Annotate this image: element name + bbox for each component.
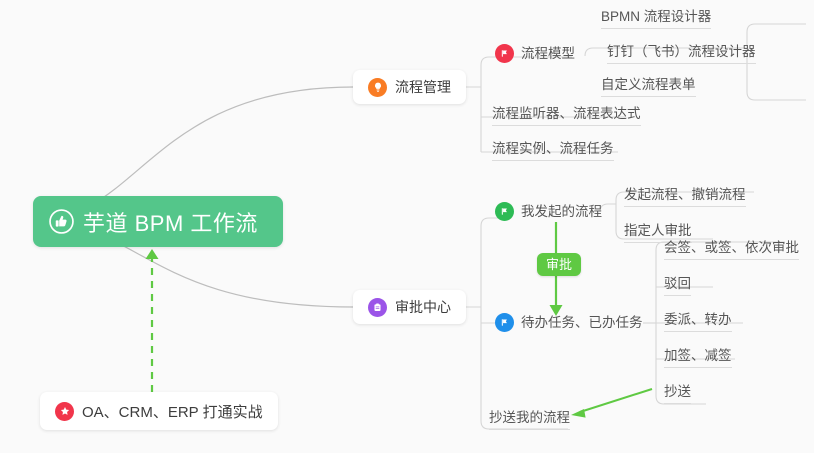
flag-icon [495,44,514,63]
node-label: OA、CRM、ERP 打通实战 [82,401,263,422]
node-weipai-zhuanban[interactable]: 委派、转办 [664,313,732,332]
node-huiqian-huoqian-yici[interactable]: 会签、或签、依次审批 [664,241,799,260]
lightbulb-icon [368,78,387,97]
link-wf-stem [600,204,616,212]
node-wo-faqi-de-liucheng[interactable]: 我发起的流程 [495,202,602,221]
link-lm-to-bpmn [747,24,806,32]
node-label: 我发起的流程 [521,205,602,219]
root-label: 芋道 BPM 工作流 [83,206,258,238]
node-jiaqian-jianqian[interactable]: 加签、减签 [664,349,732,368]
arrow-oa-to-root [146,249,159,392]
mindmap-canvas: 芋道 BPM 工作流 流程管理 流程模型 BPMN 流程设计器 钉钉（飞书）流程… [0,0,814,453]
node-liucheng-guanli[interactable]: 流程管理 [353,70,466,104]
node-label: 待办任务、已办任务 [521,316,643,330]
flag-icon [495,202,514,221]
node-shili-renwu[interactable]: 流程实例、流程任务 [492,142,614,161]
node-dingding-feishu-sheji[interactable]: 钉钉（飞书）流程设计器 [607,45,756,64]
star-icon [55,402,74,421]
node-liucheng-moxing[interactable]: 流程模型 [495,44,575,63]
node-chaosong[interactable]: 抄送 [664,385,691,404]
node-jianting-biaodashi[interactable]: 流程监听器、流程表达式 [492,107,641,126]
node-faqi-chexiao[interactable]: 发起流程、撤销流程 [624,188,746,207]
node-label: 审批中心 [395,297,451,317]
node-label: 流程管理 [395,77,451,97]
link-lm-to-zidingyi [747,92,806,100]
node-bohui[interactable]: 驳回 [664,277,691,296]
node-oa-crm-erp[interactable]: OA、CRM、ERP 打通实战 [40,392,278,430]
node-chaosong-wode-liucheng[interactable]: 抄送我的流程 [489,411,570,430]
approval-pill: 审批 [537,253,581,276]
node-bpmn-sheji[interactable]: BPMN 流程设计器 [601,10,711,29]
root-node[interactable]: 芋道 BPM 工作流 [33,196,283,247]
node-daiban-yiban-renwu[interactable]: 待办任务、已办任务 [495,313,643,332]
node-zidingyi-biaodan[interactable]: 自定义流程表单 [601,78,696,97]
thumbs-up-icon [49,209,74,234]
flag-icon [495,313,514,332]
node-shenpi-zhongxin[interactable]: 审批中心 [353,290,466,324]
node-label: 流程模型 [521,47,575,61]
clipboard-icon [368,298,387,317]
arrow-chaosong-to-chaosongwode [571,389,652,418]
